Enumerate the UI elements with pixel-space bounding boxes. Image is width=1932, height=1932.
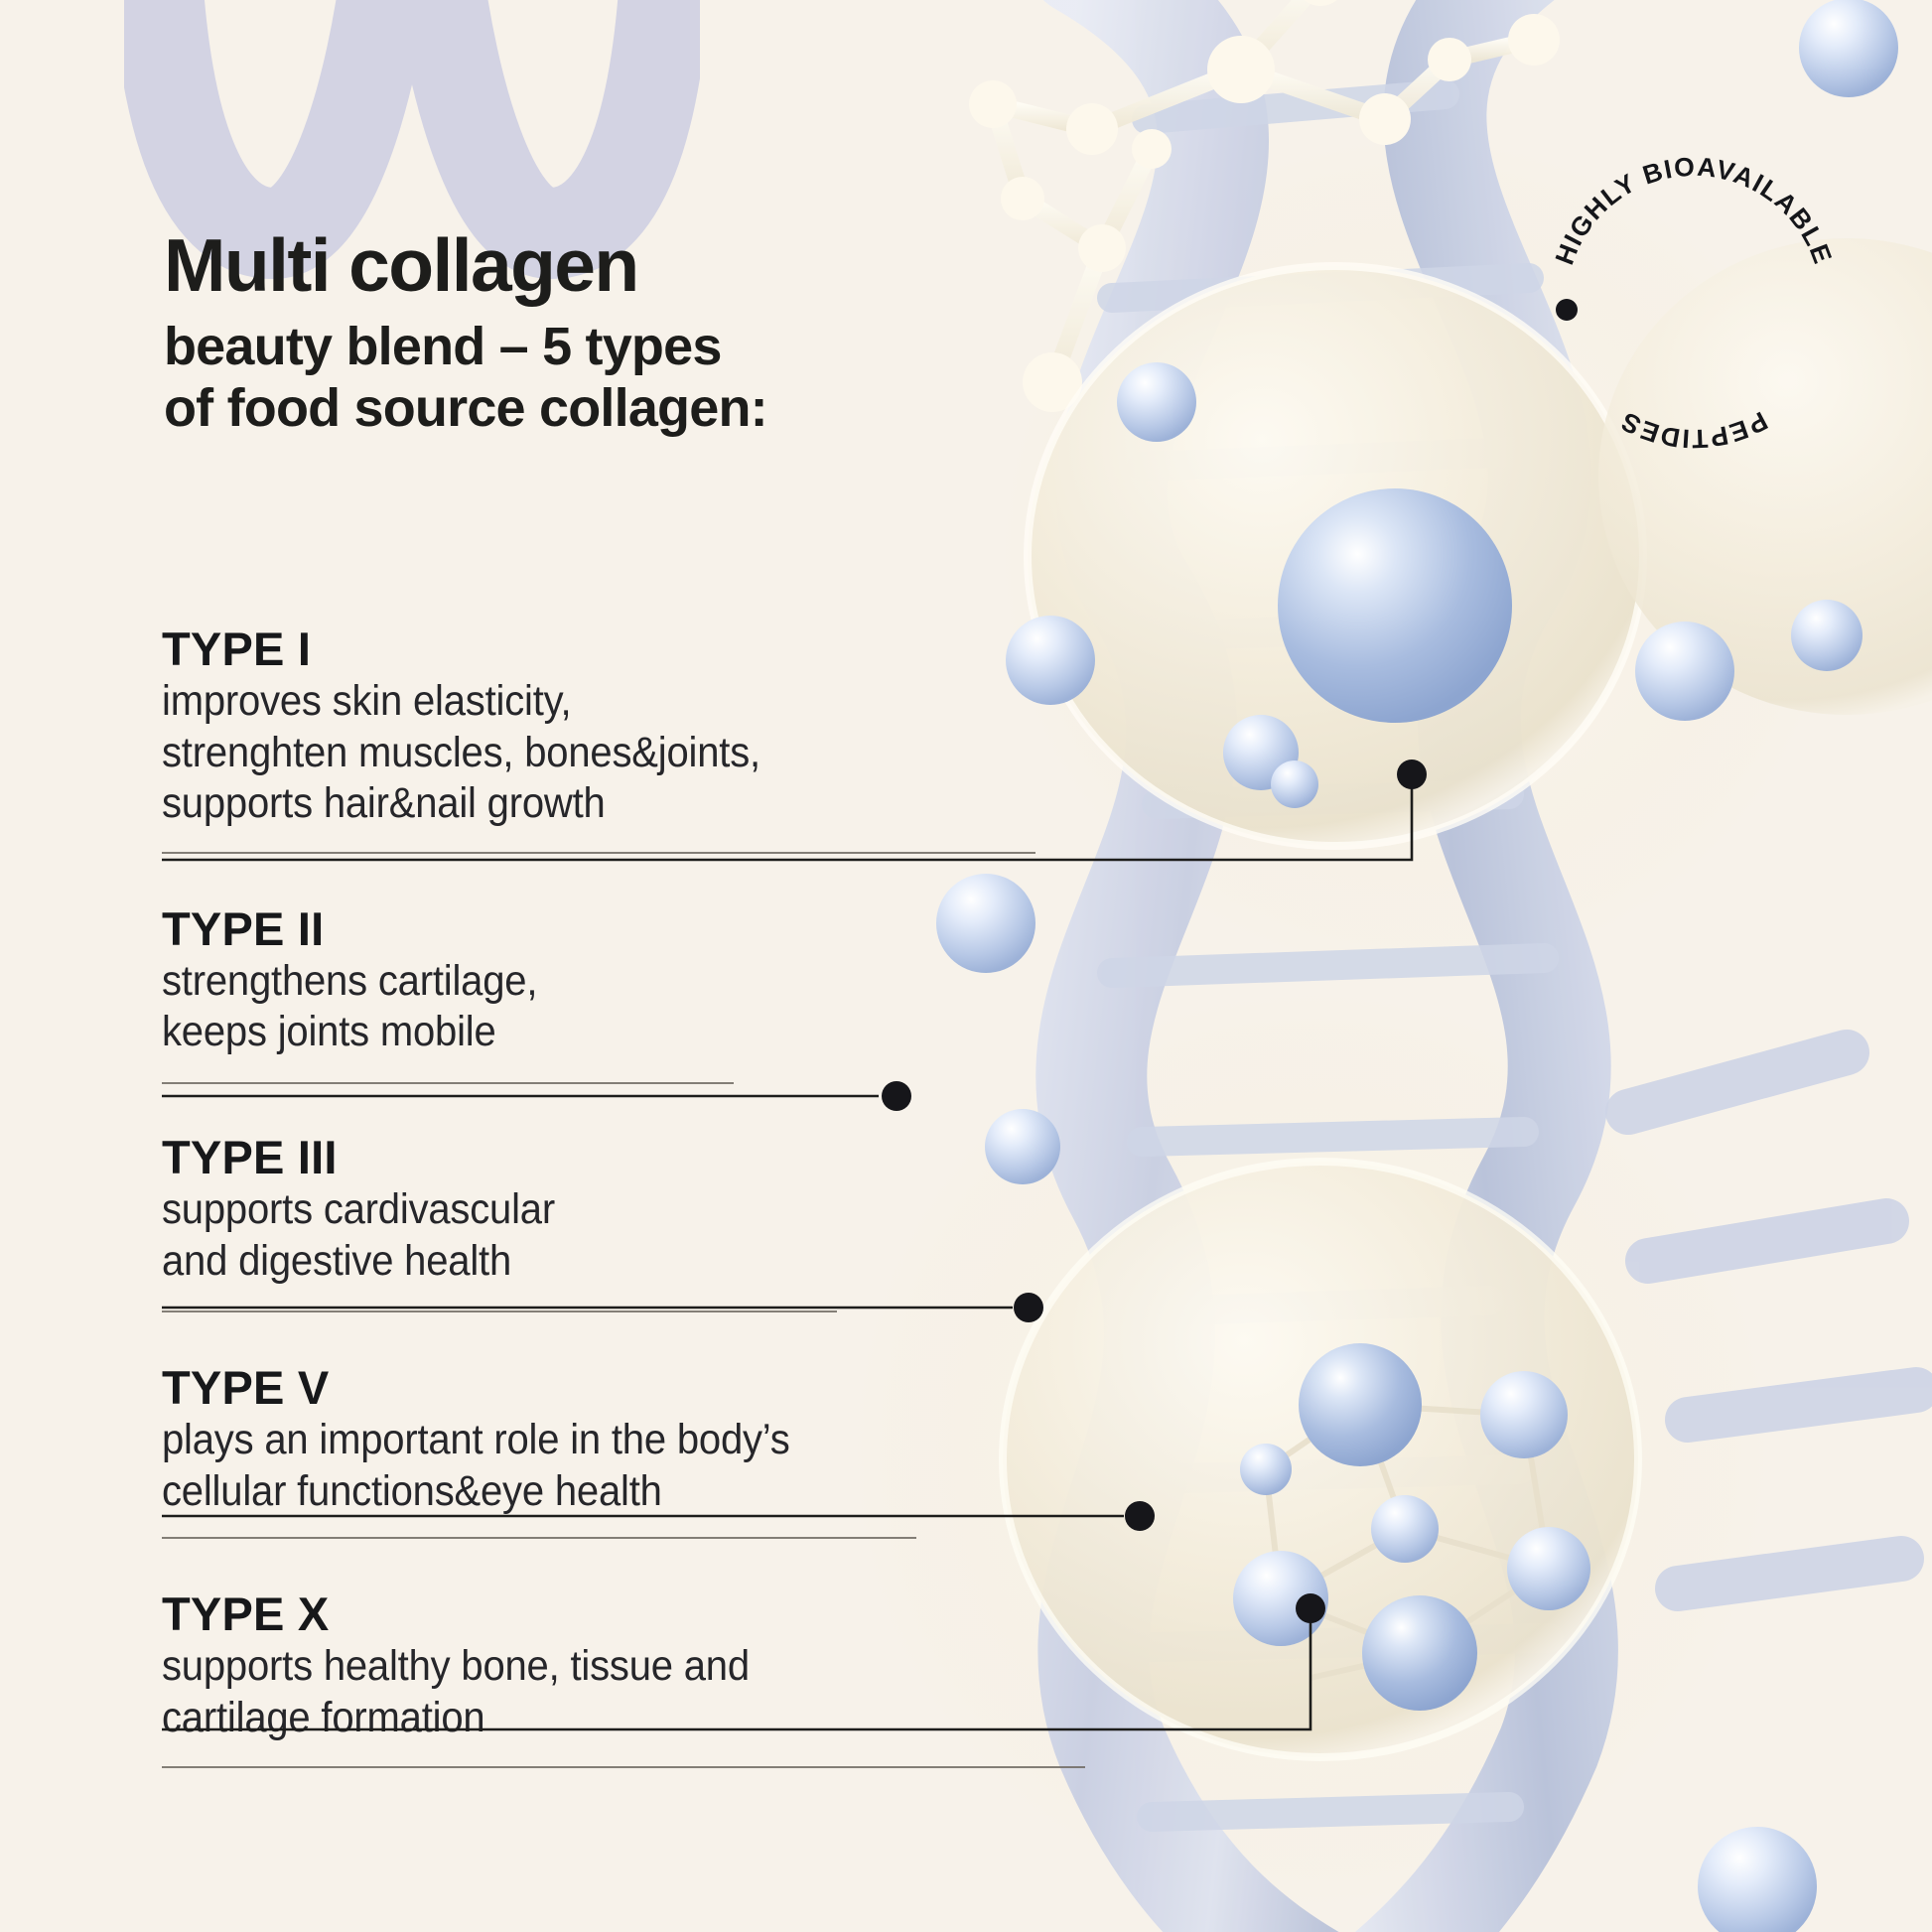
type-description-10: supports healthy bone, tissue and cartil… — [162, 1641, 1048, 1743]
collagen-type-item-2: TYPE II strengthens cartilage, keeps joi… — [162, 905, 1115, 1084]
leader-dot-type-10 — [1296, 1593, 1325, 1623]
collagen-type-item-5: TYPE V plays an important role in the bo… — [162, 1364, 1115, 1539]
badge-bullet-dot — [1556, 299, 1578, 321]
collagen-type-item-10: TYPE X supports healthy bone, tissue and… — [162, 1590, 1115, 1767]
type-divider-5 — [162, 1537, 916, 1539]
header-block: Multi collagen beauty blend – 5 types of… — [164, 228, 1057, 439]
highly-bioavailable-peptides-badge: HIGHLY BIOAVAILABLE PEPTIDES — [1540, 149, 1848, 457]
leader-dot-type-5 — [1125, 1501, 1155, 1531]
badge-text-bottom: PEPTIDES — [1615, 406, 1773, 455]
page-subtitle: beauty blend – 5 types of food source co… — [164, 317, 1057, 439]
leader-dot-type-1 — [1397, 759, 1427, 789]
type-heading-2: TYPE II — [162, 905, 1115, 952]
badge-text-top: HIGHLY BIOAVAILABLE — [1550, 152, 1839, 269]
type-description-5: plays an important role in the body’s ce… — [162, 1415, 1048, 1517]
collagen-type-item-1: TYPE I improves skin elasticity, strengh… — [162, 625, 1115, 854]
type-heading-3: TYPE III — [162, 1134, 1115, 1180]
collagen-type-item-3: TYPE III supports cardivascular and dige… — [162, 1134, 1115, 1312]
type-divider-10 — [162, 1766, 1085, 1768]
type-description-1: improves skin elasticity, strenghten mus… — [162, 676, 1048, 830]
type-divider-3 — [162, 1311, 837, 1312]
type-divider-1 — [162, 852, 1035, 854]
type-divider-2 — [162, 1082, 734, 1084]
type-heading-1: TYPE I — [162, 625, 1115, 672]
type-heading-10: TYPE X — [162, 1590, 1115, 1637]
page-title: Multi collagen — [164, 228, 1057, 303]
type-description-2: strengthens cartilage, keeps joints mobi… — [162, 956, 1048, 1058]
type-heading-5: TYPE V — [162, 1364, 1115, 1411]
infographic-canvas: HIGHLY BIOAVAILABLE PEPTIDES Multi colla… — [0, 0, 1932, 1932]
type-description-3: supports cardivascular and digestive hea… — [162, 1184, 1048, 1287]
collagen-type-list: TYPE I improves skin elasticity, strengh… — [162, 625, 1115, 1768]
